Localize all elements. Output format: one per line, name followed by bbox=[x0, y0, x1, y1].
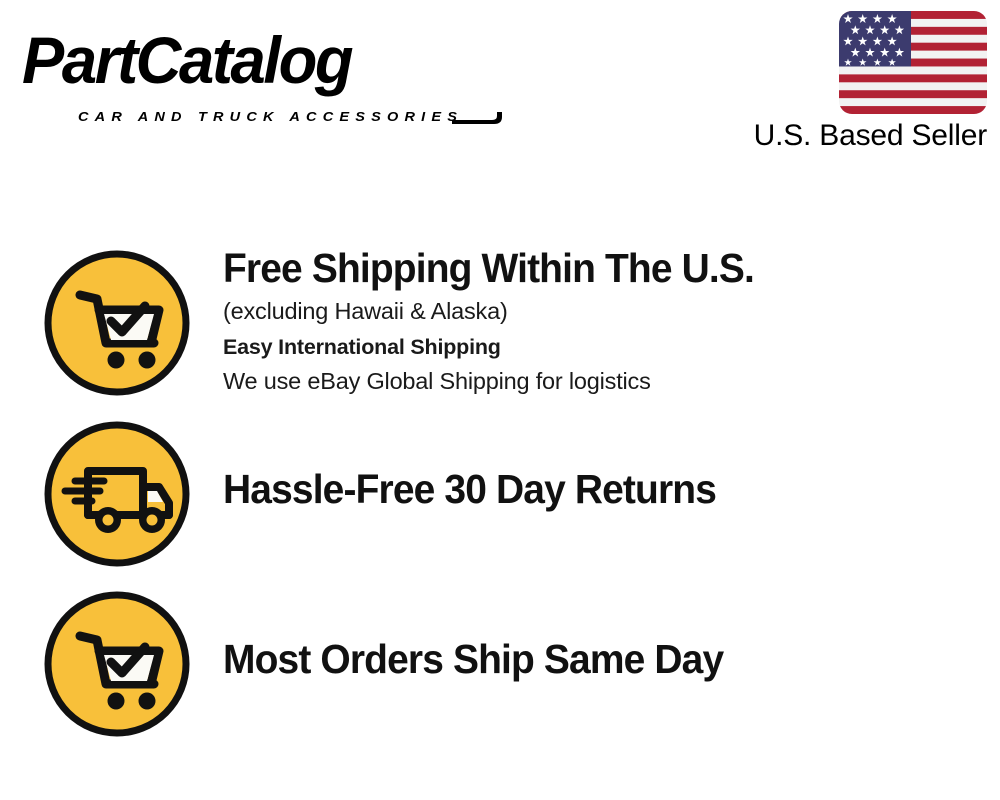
brand-tagline: CAR AND TRUCK ACCESSORIES bbox=[78, 110, 463, 125]
shopping-cart-check-icon bbox=[42, 589, 192, 739]
feature-text-block: Hassle-Free 30 Day Returns bbox=[223, 463, 993, 515]
us-based-seller-label: U.S. Based Seller bbox=[754, 118, 987, 154]
feature-row: Most Orders Ship Same Day bbox=[0, 589, 1000, 741]
brand-swoosh-icon bbox=[450, 112, 504, 125]
feature-text-block: Free Shipping Within The U.S. (excluding… bbox=[223, 242, 993, 398]
feature-row: Hassle-Free 30 Day Returns bbox=[0, 419, 1000, 571]
us-flag-icon bbox=[839, 11, 987, 114]
brand-wordmark: PartCatalog bbox=[22, 24, 351, 96]
shopping-cart-check-icon bbox=[42, 248, 192, 398]
feature-title: Most Orders Ship Same Day bbox=[223, 633, 955, 685]
feature-text-block: Most Orders Ship Same Day bbox=[223, 633, 993, 685]
feature-title: Hassle-Free 30 Day Returns bbox=[223, 463, 955, 515]
feature-subtitle: Easy International Shipping bbox=[223, 331, 993, 364]
feature-row: Free Shipping Within The U.S. (excluding… bbox=[0, 248, 1000, 400]
feature-title: Free Shipping Within The U.S. bbox=[223, 242, 955, 294]
partcatalog-logo: PartCatalog CAR AND TRUCK ACCESSORIES bbox=[22, 24, 492, 114]
banner-header: PartCatalog CAR AND TRUCK ACCESSORIES bbox=[0, 0, 1000, 170]
delivery-truck-icon bbox=[42, 419, 192, 569]
feature-subtitle: (excluding Hawaii & Alaska) bbox=[223, 294, 993, 328]
feature-subtitle: We use eBay Global Shipping for logistic… bbox=[223, 364, 993, 398]
